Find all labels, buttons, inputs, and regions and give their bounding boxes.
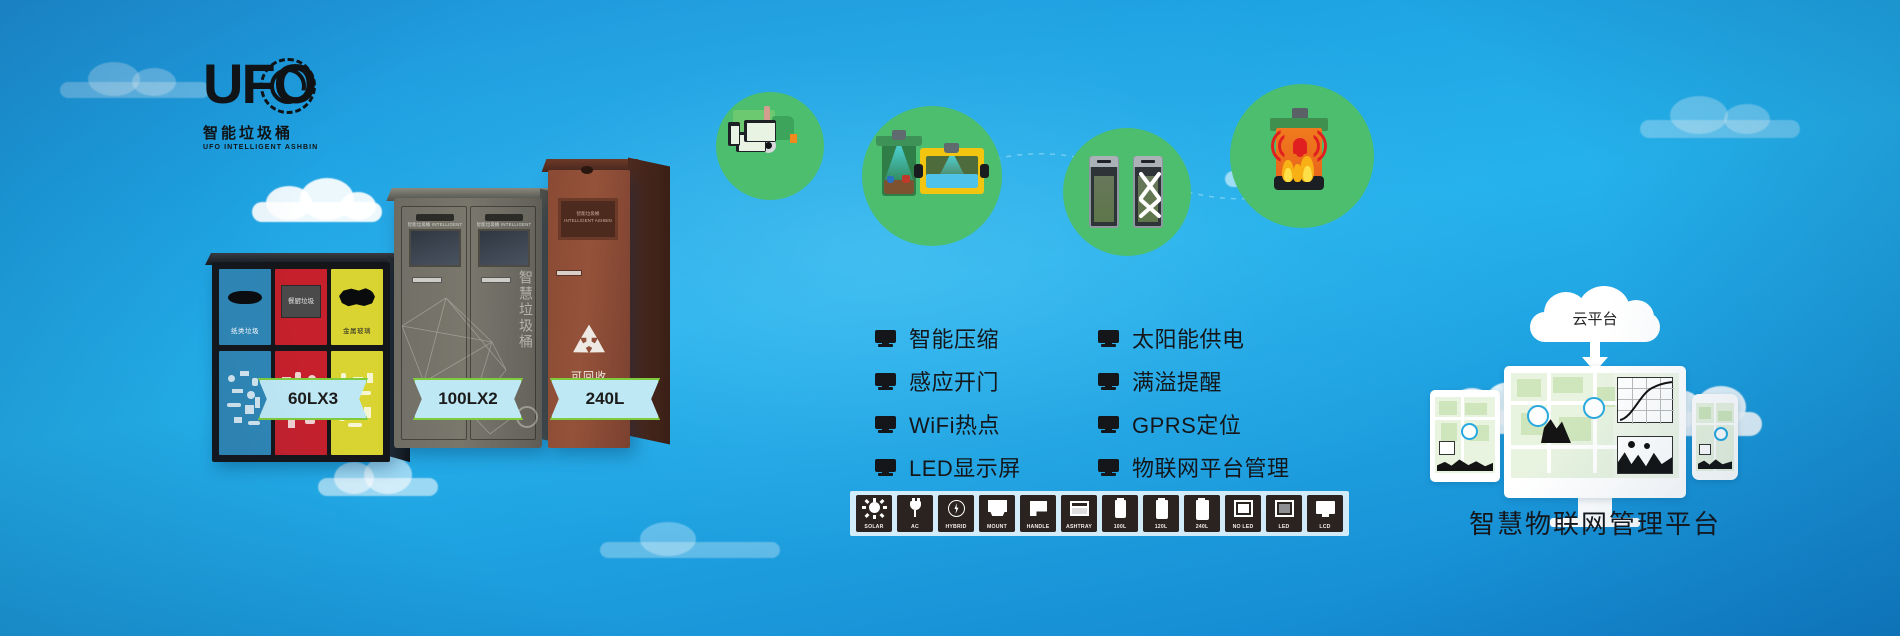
- waste-item-icon: [902, 175, 910, 183]
- bin-fill-icon: [1094, 176, 1114, 222]
- triple-sorting-bin: 纸类垃圾: [212, 262, 390, 462]
- option-hybrid[interactable]: HYBRID: [938, 495, 974, 532]
- capacity-badge-100lx2: 100LX2: [413, 378, 523, 420]
- flame-icon: [1303, 166, 1312, 182]
- option-ac[interactable]: AC: [897, 495, 933, 532]
- capacity-badge-60lx3: 60LX3: [258, 378, 368, 420]
- flame-icon: [1284, 168, 1292, 182]
- handle-icon: [1025, 498, 1051, 520]
- cell-upper-panel: 餐厨垃圾: [275, 269, 327, 345]
- capacity-badge-240l: 240L: [550, 378, 660, 420]
- led-strip: [485, 214, 523, 221]
- cell-upper-panel: 纸类垃圾: [219, 269, 271, 345]
- desktop-monitor: [1504, 366, 1686, 498]
- monitor-screen: [1511, 373, 1679, 478]
- waste-slot-icon: [228, 291, 262, 304]
- led-icon: [1271, 498, 1297, 520]
- monitor-bullet-icon: [875, 373, 896, 390]
- option-lcd[interactable]: LCD: [1307, 495, 1343, 532]
- container-wheel-icon: [914, 164, 923, 178]
- feature-label: WiFi热点: [909, 408, 1000, 440]
- curve-line: [1618, 378, 1674, 424]
- option-solar[interactable]: SOLAR: [856, 495, 892, 532]
- option-label: LED: [1266, 524, 1302, 530]
- option-label: HYBRID: [938, 524, 974, 530]
- feature-list: 智能压缩 太阳能供电 感应开门 满溢提醒 WiFi热点 GPRS定位 LED显示…: [875, 322, 1343, 483]
- cell-label: 纸类垃圾: [219, 325, 271, 335]
- monitor-bullet-icon: [1098, 459, 1119, 476]
- monitor-bullet-icon: [875, 416, 896, 433]
- option-label: ASHTRAY: [1061, 524, 1097, 530]
- option-label: NO LED: [1225, 524, 1261, 530]
- sensor-icon: [581, 166, 593, 174]
- bin-screen-text: 智能垃圾桶 INTELLIGENT ASHBIN: [558, 210, 618, 224]
- dashboard-map: [1511, 373, 1613, 478]
- feature-item-smart-compaction: 智能压缩: [875, 322, 1080, 354]
- feature-item-iot-platform: 物联网平台管理: [1098, 451, 1343, 483]
- feature-label: 感应开门: [909, 365, 999, 397]
- feature-label: LED显示屏: [909, 451, 1021, 483]
- container-sensor-icon: [944, 143, 959, 153]
- smart-bin-before-icon: [1089, 156, 1119, 228]
- cloud-platform-badge: 云平台: [1530, 286, 1660, 346]
- cloud-platform-label: 云平台: [1530, 308, 1660, 329]
- bin-cap-icon: [1090, 156, 1118, 167]
- bin-display-window: [409, 229, 461, 267]
- fill-level-sensor-icon: [862, 106, 1002, 246]
- option-label: HANDLE: [1020, 524, 1056, 530]
- feature-item-sensor-door: 感应开门: [875, 365, 1080, 397]
- no-led-icon: [1230, 498, 1256, 520]
- feature-item-led-display: LED显示屏: [875, 451, 1080, 483]
- cloud-decoration: [1640, 96, 1800, 140]
- recycle-icon: [568, 322, 610, 364]
- power-plug-icon: [902, 498, 928, 520]
- water-fill-icon: [926, 174, 978, 188]
- feature-label: 满溢提醒: [1132, 365, 1222, 397]
- container-wheel-icon: [980, 164, 989, 178]
- bin-handle[interactable]: [481, 277, 511, 283]
- option-label: 120L: [1143, 524, 1179, 530]
- ashtray-icon: [1066, 498, 1092, 520]
- feature-item-overflow-alert: 满溢提醒: [1098, 365, 1343, 397]
- monitor-device-icon: [744, 120, 776, 142]
- map-view: [1435, 397, 1495, 473]
- option-no-led[interactable]: NO LED: [1225, 495, 1261, 532]
- option-label: LCD: [1307, 524, 1343, 530]
- bin-vertical-text: 智慧垃圾桶: [517, 270, 535, 350]
- option-label: 100L: [1102, 524, 1138, 530]
- burning-bin-icon: [1272, 112, 1326, 186]
- cell-upper-panel: 金属玻璃: [331, 269, 383, 345]
- bin-cell-recyclable: 纸类垃圾: [219, 269, 271, 455]
- platform-title: 智慧物联网管理平台: [1410, 504, 1780, 541]
- monitor-bullet-icon: [1098, 330, 1119, 347]
- waste-item-icon: [887, 176, 894, 183]
- option-label: 240L: [1184, 524, 1220, 530]
- truck-lamp-icon: [790, 134, 797, 143]
- capacity-100l-icon: [1107, 498, 1133, 520]
- solar-panel-icon: [861, 498, 887, 520]
- feature-label: 太阳能供电: [1132, 322, 1245, 354]
- compaction-icon: [1063, 128, 1191, 256]
- circle-waste-compaction: [1063, 128, 1191, 256]
- bin-screen-text-cn: 智能垃圾桶: [577, 211, 600, 216]
- smart-bin-product-banner: UFO 智能垃圾桶 UFO INTELLIGENT ASHBIN 纸类垃圾: [0, 0, 1900, 636]
- option-120l[interactable]: 120L: [1143, 495, 1179, 532]
- option-icon-strip: SOLAR AC HYBRID MOUNT: [850, 491, 1349, 536]
- lcd-icon: [1312, 498, 1338, 520]
- trend-chart: [1617, 377, 1673, 423]
- flame-icon: [1293, 164, 1302, 182]
- compaction-cross-icon: [1135, 170, 1165, 220]
- monitor-bullet-icon: [1098, 416, 1119, 433]
- option-label: MOUNT: [979, 524, 1015, 530]
- monitor-bullet-icon: [875, 330, 896, 347]
- option-mount[interactable]: MOUNT: [979, 495, 1015, 532]
- smart-bin-after-icon: [1133, 156, 1163, 228]
- bin-handle[interactable]: [412, 277, 442, 283]
- option-240l[interactable]: 240L: [1184, 495, 1220, 532]
- iot-platform-illustration: 云平台: [1430, 286, 1760, 536]
- option-label: SOLAR: [856, 524, 892, 530]
- area-chart: [1617, 436, 1673, 474]
- truck-monitoring-icon: [716, 92, 824, 200]
- feature-label: 物联网平台管理: [1132, 451, 1290, 483]
- wall-mount-icon: [984, 498, 1010, 520]
- capacity-240l-icon: [1189, 498, 1215, 520]
- tablet-screen: [1435, 397, 1495, 473]
- bin-handle[interactable]: [556, 270, 582, 276]
- circle-collection-truck-monitoring: [716, 92, 824, 200]
- waste-slot-icon: [339, 287, 375, 307]
- cell-lower-panel: [219, 351, 271, 455]
- tablet-device: [1430, 390, 1500, 482]
- phone-device: [1692, 394, 1738, 480]
- sensor-module-icon: [892, 130, 906, 140]
- bin-cell-kitchen-waste: 餐厨垃圾: [275, 269, 327, 455]
- option-led[interactable]: LED: [1266, 495, 1302, 532]
- bin-cell-metal-glass: 金属玻璃: [331, 269, 383, 455]
- feature-label: 智能压缩: [909, 322, 999, 354]
- map-view: [1696, 403, 1734, 471]
- bin-cap-icon: [1134, 156, 1162, 167]
- phone-device-icon: [728, 122, 740, 146]
- bin-screen-text-en: INTELLIGENT ASHBIN: [564, 218, 612, 223]
- phone-screen: [1696, 403, 1734, 471]
- option-100l[interactable]: 100L: [1102, 495, 1138, 532]
- option-ashtray[interactable]: ASHTRAY: [1061, 495, 1097, 532]
- hybrid-power-icon: [943, 498, 969, 520]
- bin-display-window: [478, 229, 530, 267]
- feature-item-gprs-location: GPRS定位: [1098, 408, 1343, 440]
- cell-label: 餐厨垃圾: [275, 295, 327, 305]
- alarm-bell-icon: [1293, 138, 1307, 154]
- cell-label: 金属玻璃: [331, 325, 383, 335]
- option-handle[interactable]: HANDLE: [1020, 495, 1056, 532]
- capacity-120l-icon: [1148, 498, 1174, 520]
- feature-item-solar-power: 太阳能供电: [1098, 322, 1343, 354]
- feature-label: GPRS定位: [1132, 408, 1241, 440]
- monitor-bullet-icon: [1098, 373, 1119, 390]
- option-label: AC: [897, 524, 933, 530]
- circle-fire-detection-alarm: [1230, 84, 1374, 228]
- fire-alarm-icon: [1230, 84, 1374, 228]
- circle-fill-level-sensor: [862, 106, 1002, 246]
- feature-item-wifi-hotspot: WiFi热点: [875, 408, 1080, 440]
- monitor-bullet-icon: [875, 459, 896, 476]
- led-strip: [416, 214, 454, 221]
